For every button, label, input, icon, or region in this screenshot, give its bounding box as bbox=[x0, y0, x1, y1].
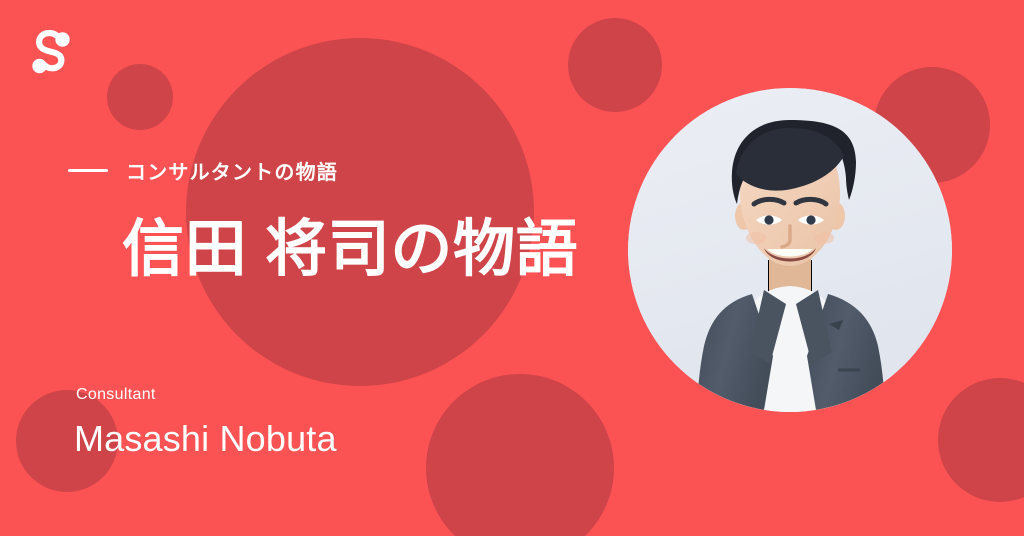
eyebrow-rule bbox=[68, 169, 108, 172]
brand-logo[interactable] bbox=[22, 24, 78, 80]
stylized-s-logo-icon bbox=[22, 24, 78, 80]
person-role-label: Consultant bbox=[76, 386, 156, 404]
eyebrow: コンサルタントの物語 bbox=[68, 156, 338, 185]
circle-top-left-small bbox=[107, 64, 173, 130]
circle-bottom-right bbox=[938, 378, 1024, 502]
consultant-story-banner: コンサルタントの物語 信田 将司の物語 Consultant Masashi N… bbox=[0, 0, 1024, 536]
circle-top-mid bbox=[568, 18, 662, 112]
page-title: 信田 将司の物語 bbox=[122, 216, 578, 284]
portrait-illustration-icon bbox=[628, 88, 952, 412]
eyebrow-label: コンサルタントの物語 bbox=[126, 156, 338, 185]
person-name: Masashi Nobuta bbox=[74, 418, 337, 460]
circle-center-large bbox=[186, 38, 534, 386]
avatar bbox=[628, 88, 952, 412]
circle-bottom-center bbox=[426, 374, 614, 536]
